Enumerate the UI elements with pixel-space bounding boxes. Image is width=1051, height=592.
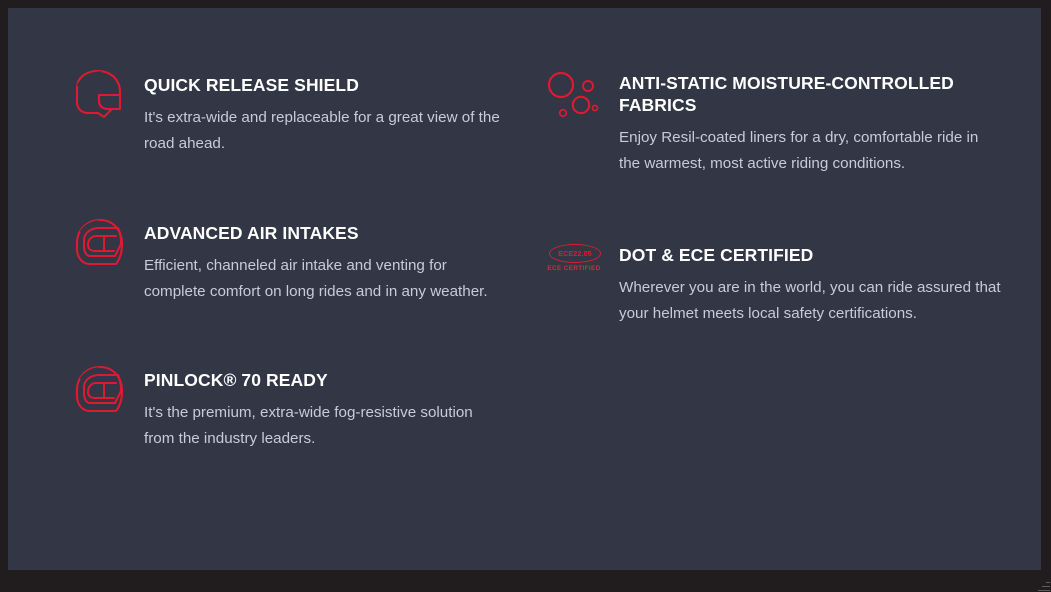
- feature-title: ANTI-STATIC MOISTURE-CONTROLLED FABRICS: [619, 72, 1013, 116]
- feature-title: QUICK RELEASE SHIELD: [144, 74, 523, 96]
- feature-description: Wherever you are in the world, you can r…: [619, 275, 1001, 326]
- feature-text-block: ANTI-STATIC MOISTURE-CONTROLLED FABRICS …: [619, 68, 1013, 176]
- ece-standard-label: ECE22.05: [558, 250, 592, 258]
- browser-viewport: QUICK RELEASE SHIELD It's extra-wide and…: [0, 0, 1051, 592]
- feature-title: ADVANCED AIR INTAKES: [144, 222, 523, 244]
- feature-text-block: DOT & ECE CERTIFIED Wherever you are in …: [619, 238, 1013, 326]
- window-resize-handle[interactable]: [1037, 578, 1050, 591]
- feature-description: It's extra-wide and replaceable for a gr…: [144, 105, 504, 156]
- feature-description: Efficient, channeled air intake and vent…: [144, 253, 504, 304]
- feature-description: It's the premium, extra-wide fog-resisti…: [144, 400, 504, 451]
- helmet-shield-icon: [68, 68, 130, 124]
- ece-caption-label: ECE CERTIFIED: [543, 265, 605, 272]
- feature-description: Enjoy Resil-coated liners for a dry, com…: [619, 125, 1001, 176]
- resize-grip-line: [1046, 582, 1050, 584]
- helmet-pinlock-icon: [68, 363, 130, 419]
- ece-standard-oval: ECE22.05: [549, 244, 601, 263]
- feature-title: DOT & ECE CERTIFIED: [619, 244, 1013, 266]
- feature-text-block: PINLOCK® 70 READY It's the premium, extr…: [144, 363, 523, 451]
- feature-item-pinlock-70-ready: PINLOCK® 70 READY It's the premium, extr…: [68, 363, 523, 451]
- ece-badge: ECE22.05 ECE CERTIFIED: [543, 244, 605, 284]
- feature-list-panel: QUICK RELEASE SHIELD It's extra-wide and…: [8, 8, 1041, 570]
- feature-item-dot-ece-certified: ECE22.05 ECE CERTIFIED DOT & ECE CERTIFI…: [543, 238, 1013, 326]
- helmet-vent-icon: [68, 216, 130, 272]
- ece-certification-badge-icon: ECE22.05 ECE CERTIFIED: [543, 238, 605, 294]
- features-grid: QUICK RELEASE SHIELD It's extra-wide and…: [8, 8, 1041, 570]
- feature-item-quick-release-shield: QUICK RELEASE SHIELD It's extra-wide and…: [68, 68, 523, 156]
- feature-item-advanced-air-intakes: ADVANCED AIR INTAKES Efficient, channele…: [68, 216, 523, 304]
- resize-grip-line: [1042, 586, 1050, 588]
- feature-item-anti-static-moisture-controlled-fabrics: ANTI-STATIC MOISTURE-CONTROLLED FABRICS …: [543, 68, 1013, 176]
- feature-text-block: ADVANCED AIR INTAKES Efficient, channele…: [144, 216, 523, 304]
- feature-text-block: QUICK RELEASE SHIELD It's extra-wide and…: [144, 68, 523, 156]
- moisture-bubbles-icon: [543, 68, 605, 124]
- feature-title: PINLOCK® 70 READY: [144, 369, 523, 391]
- resize-grip-line: [1038, 590, 1050, 592]
